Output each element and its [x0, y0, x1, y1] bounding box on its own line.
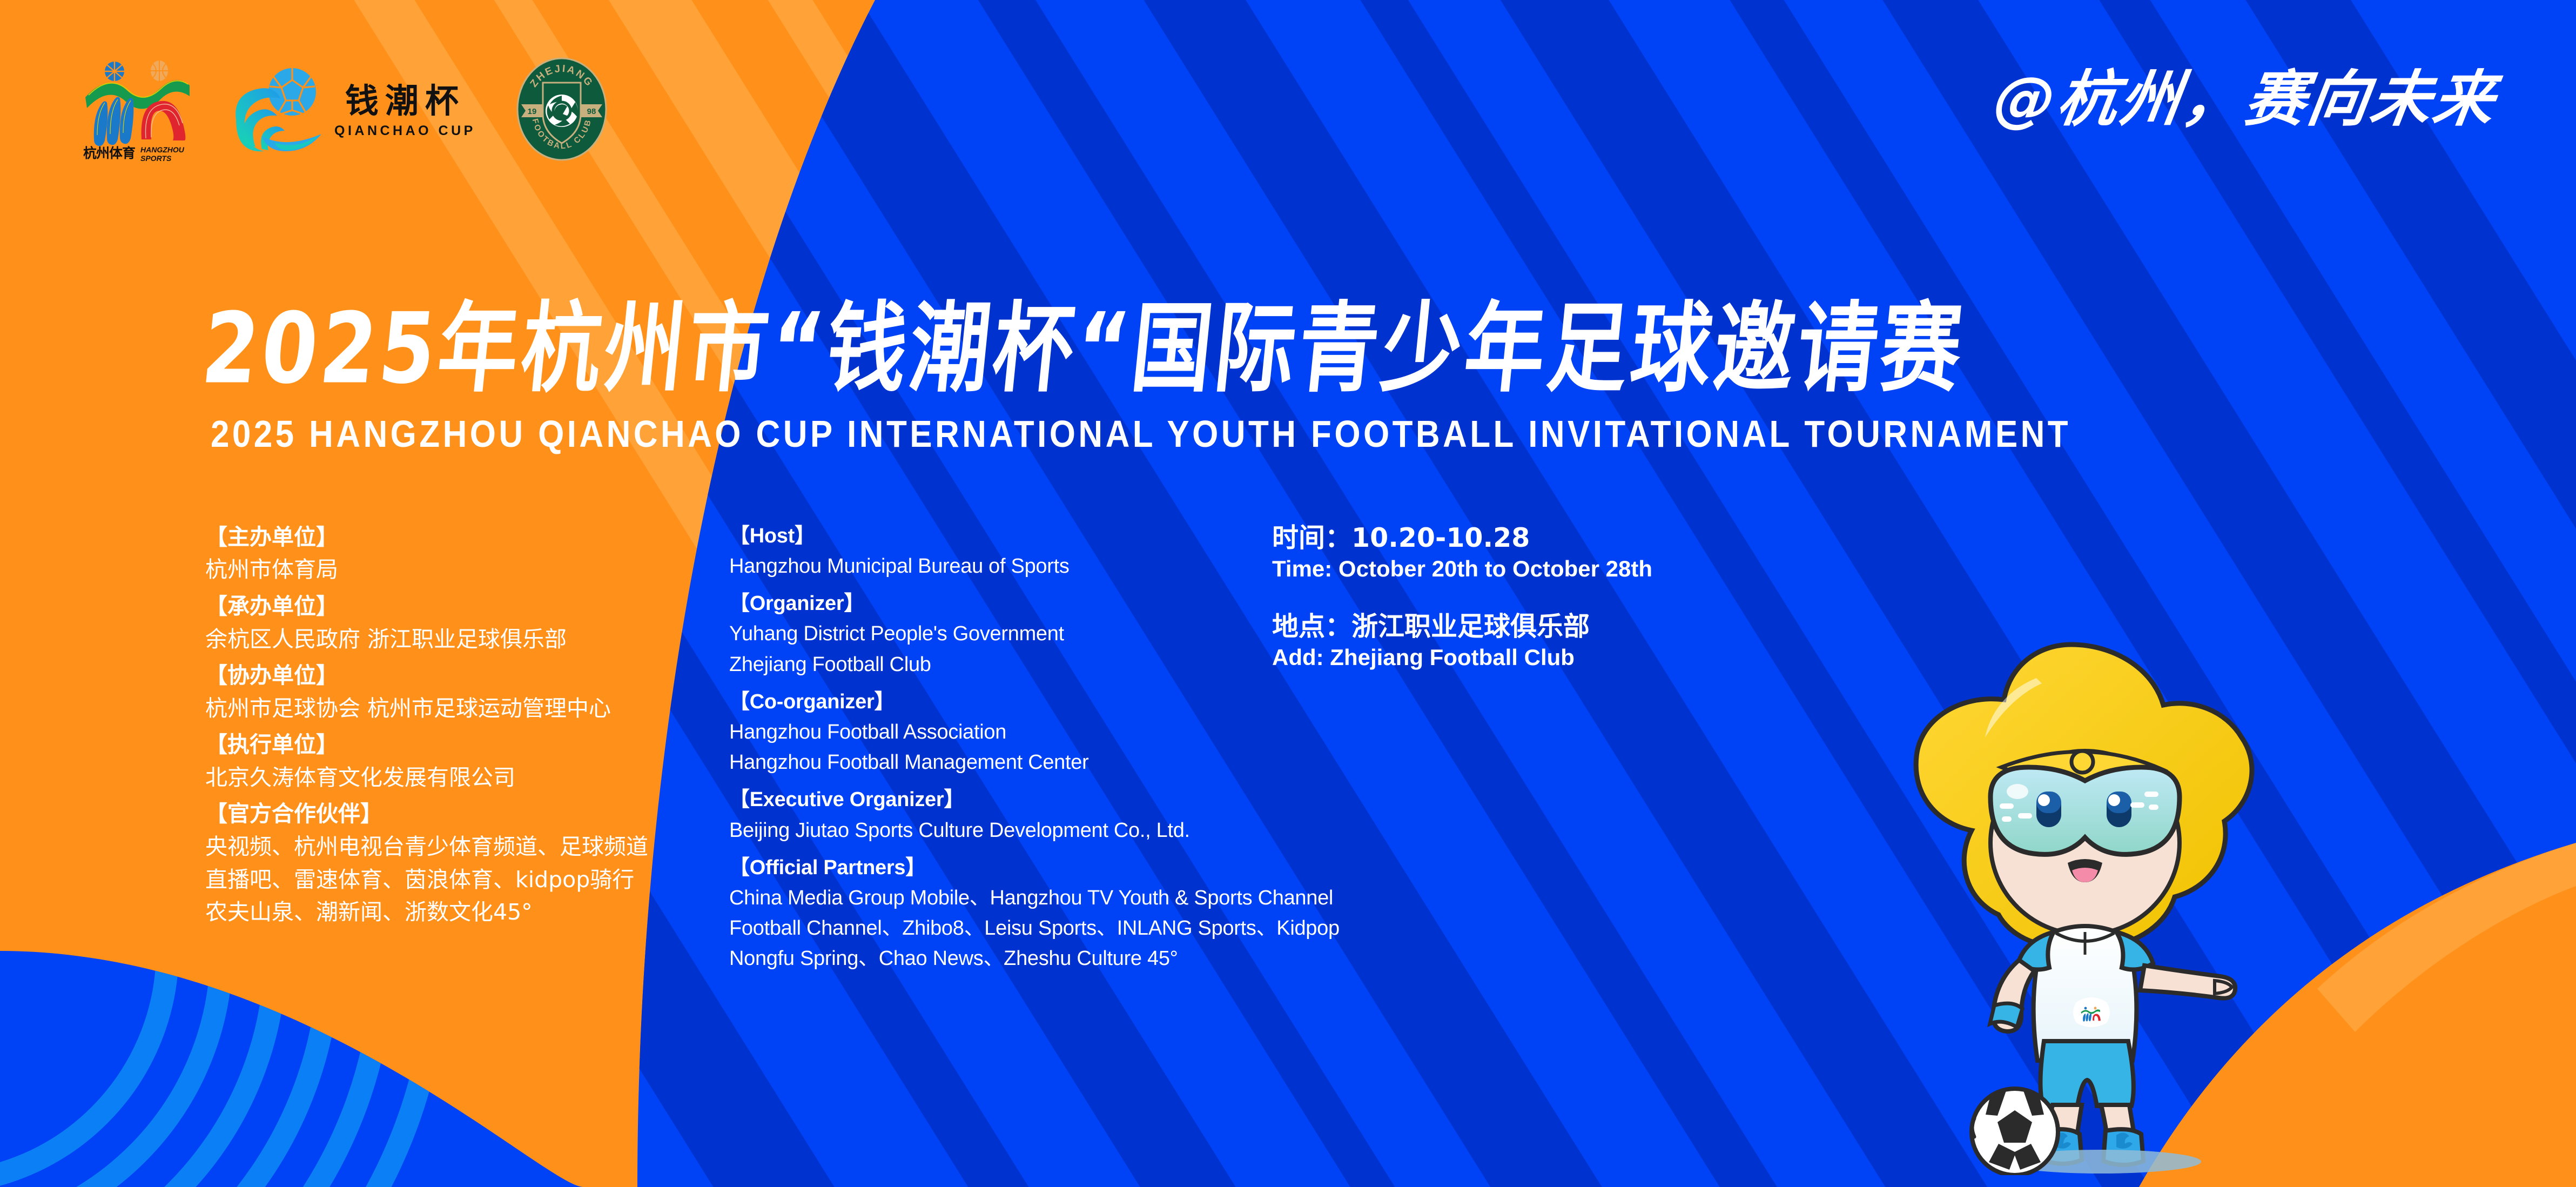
info-block: 【执行单位】北京久涛体育文化发展有限公司 — [205, 729, 724, 794]
info-block-line: Zhejiang Football Club — [729, 649, 1367, 680]
info-block: 【官方合作伙伴】 央视频、杭州电视台青少体育频道、足球频道 直播吧、雷速体育、茵… — [205, 798, 724, 928]
svg-text:98: 98 — [587, 107, 596, 116]
svg-text:SPORTS: SPORTS — [140, 154, 172, 161]
info-block: 【Official Partners】 China Media Group Mo… — [729, 853, 1367, 974]
schedule-block: 时间：10.20-10.28 Time: October 20th to Oct… — [1272, 521, 1652, 673]
mascot-illustration — [1874, 629, 2285, 1175]
info-block: 【Organizer】Yuhang District People's Gove… — [729, 589, 1367, 680]
info-block-line: China Media Group Mobile、Hangzhou TV You… — [729, 883, 1367, 913]
info-block: 【协办单位】杭州市足球协会 杭州市足球运动管理中心 — [205, 660, 724, 725]
info-block-line: Hangzhou Municipal Bureau of Sports — [729, 551, 1367, 581]
info-block: 【主办单位】杭州市体育局 — [205, 521, 724, 586]
info-block-line: 农夫山泉、潮新闻、浙数文化45° — [205, 896, 724, 929]
info-block-head: 【承办单位】 — [205, 591, 724, 622]
poster-canvas: 杭州体育 HANGZHOU SPORTS — [0, 0, 2576, 1187]
svg-text:HANGZHOU: HANGZHOU — [140, 145, 185, 154]
spacer — [1272, 584, 1652, 610]
logo-qianchao-cup: 钱潮杯 QIANCHAO CUP — [232, 64, 476, 158]
page-title-en: 2025 HANGZHOU QIANCHAO CUP INTERNATIONAL… — [211, 416, 2071, 453]
info-block-head: 【执行单位】 — [205, 729, 724, 761]
qianchao-cup-cn: 钱潮杯 — [345, 84, 465, 118]
info-block-head: 【Host】 — [729, 521, 1367, 551]
info-block-line: Hangzhou Football Management Center — [729, 747, 1367, 777]
info-block-line: 杭州市足球协会 杭州市足球运动管理中心 — [205, 692, 724, 725]
info-block: 【Executive Organizer】Beijing Jiutao Spor… — [729, 785, 1367, 845]
info-block: 【Co-organizer】Hangzhou Football Associat… — [729, 687, 1367, 778]
event-time-en: Time: October 20th to October 28th — [1272, 554, 1652, 584]
info-block-head: 【Organizer】 — [729, 589, 1367, 619]
info-block-line: 央视频、杭州电视台青少体育频道、足球频道 — [205, 830, 724, 863]
info-block-line: Yuhang District People's Government — [729, 619, 1367, 649]
info-block-head: 【Official Partners】 — [729, 853, 1367, 883]
info-block-head: 【协办单位】 — [205, 660, 724, 692]
logo-row: 杭州体育 HANGZHOU SPORTS — [81, 57, 608, 165]
info-block-line: Football Channel、Zhibo8、Leisu Sports、INL… — [729, 913, 1367, 943]
event-place-cn: 地点：浙江职业足球俱乐部 — [1272, 610, 1652, 643]
info-block-line: 杭州市体育局 — [205, 553, 724, 586]
logo-hangzhou-sports: 杭州体育 HANGZHOU SPORTS — [81, 58, 192, 164]
svg-text:19: 19 — [528, 107, 537, 116]
event-slogan: @杭州，赛向未来 — [1990, 69, 2500, 130]
info-block-line: 余杭区人民政府 浙江职业足球俱乐部 — [205, 623, 724, 656]
info-block-head: 【官方合作伙伴】 — [205, 798, 724, 830]
info-block-head: 【Co-organizer】 — [729, 687, 1367, 717]
info-block-line: Beijing Jiutao Sports Culture Developmen… — [729, 815, 1367, 846]
info-column-chinese: 【主办单位】杭州市体育局 【承办单位】余杭区人民政府 浙江职业足球俱乐部 【协办… — [205, 521, 724, 933]
info-block-line: 直播吧、雷速体育、茵浪体育、kidpop骑行 — [205, 863, 724, 896]
logo-zhejiang-fc: ZHEJIANG FOOTBALL CLUB 19 98 — [516, 57, 608, 165]
info-block: 【Host】Hangzhou Municipal Bureau of Sport… — [729, 521, 1367, 581]
info-block-line: Nongfu Spring、Chao News、Zheshu Culture 4… — [729, 943, 1367, 974]
svg-text:杭州体育: 杭州体育 — [83, 145, 135, 161]
info-block-head: 【Executive Organizer】 — [729, 785, 1367, 815]
info-block: 【承办单位】余杭区人民政府 浙江职业足球俱乐部 — [205, 591, 724, 655]
info-block-line: Hangzhou Football Association — [729, 717, 1367, 747]
event-place-en: Add: Zhejiang Football Club — [1272, 643, 1652, 673]
event-time-cn: 时间：10.20-10.28 — [1272, 521, 1652, 554]
page-title-cn: 2025年杭州市“钱潮杯“国际青少年足球邀请赛 — [198, 300, 1969, 398]
info-column-english: 【Host】Hangzhou Municipal Bureau of Sport… — [729, 521, 1367, 982]
qianchao-cup-en: QIANCHAO CUP — [334, 124, 476, 138]
info-block-line: 北京久涛体育文化发展有限公司 — [205, 761, 724, 794]
info-block-head: 【主办单位】 — [205, 521, 724, 553]
